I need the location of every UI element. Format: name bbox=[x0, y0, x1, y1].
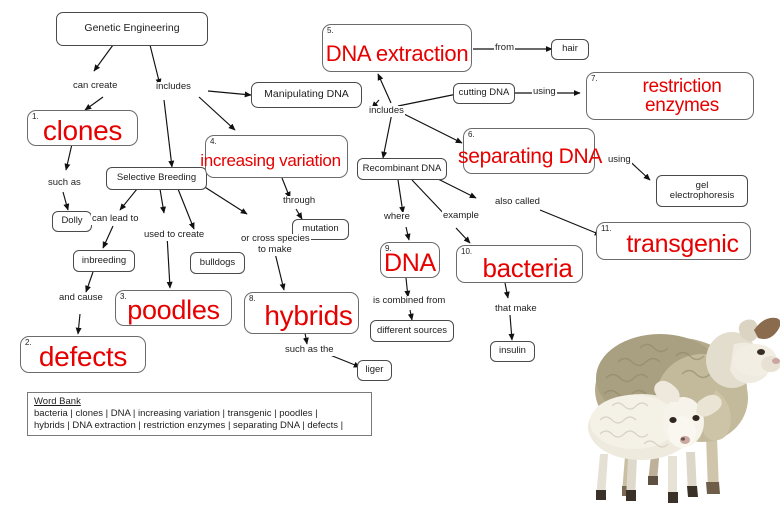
answer-number: 6. bbox=[468, 131, 475, 140]
link-label-example: example bbox=[442, 211, 480, 222]
answer-text: increasing variation bbox=[200, 152, 341, 171]
link-label-where: where bbox=[383, 212, 411, 223]
node-label: different sources bbox=[377, 326, 447, 336]
node-label: bulldogs bbox=[200, 258, 235, 268]
answer-text: separating DNA bbox=[458, 145, 588, 168]
answer-text: clones bbox=[28, 116, 137, 147]
answer-text: poodles bbox=[116, 296, 231, 326]
node-liger[interactable]: liger bbox=[357, 360, 392, 381]
link-label-that-make: that make bbox=[494, 304, 538, 315]
node-answer-dna[interactable]: 9. DNA bbox=[380, 242, 440, 278]
node-label: insulin bbox=[499, 346, 526, 356]
node-label-line2: electrophoresis bbox=[670, 191, 734, 201]
node-label: inbreeding bbox=[82, 256, 126, 266]
link-label-or-cross-species-line2: to make bbox=[257, 245, 293, 256]
node-answer-separating-dna[interactable]: 6. separating DNA bbox=[463, 128, 595, 174]
node-answer-dna-extraction[interactable]: 5. DNA extraction bbox=[322, 24, 472, 72]
answer-number: 7. bbox=[591, 75, 598, 84]
node-inbreeding[interactable]: inbreeding bbox=[73, 250, 135, 272]
word-bank-line-2: hybrids | DNA extraction | restriction e… bbox=[34, 420, 365, 432]
answer-text: bacteria bbox=[465, 254, 590, 283]
link-label-from: from bbox=[494, 43, 515, 54]
link-label-using-separating: using bbox=[607, 155, 632, 166]
node-answer-bacteria[interactable]: 10. bacteria bbox=[456, 245, 583, 283]
node-answer-increasing-variation[interactable]: 4. increasing variation bbox=[205, 135, 348, 178]
node-label: Genetic Engineering bbox=[84, 23, 179, 35]
node-answer-defects[interactable]: 2. defects bbox=[20, 336, 146, 373]
link-label-can-create: can create bbox=[72, 81, 118, 92]
answer-text: transgenic bbox=[606, 231, 759, 259]
node-label: cutting DNA bbox=[459, 88, 510, 98]
link-label-such-as: such as bbox=[47, 178, 82, 189]
node-answer-poodles[interactable]: 3. poodles bbox=[115, 290, 232, 326]
node-cutting-dna[interactable]: cutting DNA bbox=[453, 83, 515, 104]
word-bank: Word Bank bacteria | clones | DNA | incr… bbox=[27, 392, 372, 436]
link-label-such-as-the: such as the bbox=[284, 345, 335, 356]
node-label: Dolly bbox=[61, 216, 82, 226]
link-label-through: through bbox=[282, 196, 316, 207]
node-label: Selective Breeding bbox=[117, 173, 196, 183]
answer-text: DNA bbox=[381, 250, 439, 278]
node-label: hair bbox=[562, 44, 578, 54]
node-answer-transgenic[interactable]: 11. transgenic bbox=[596, 222, 751, 260]
answer-text-line2: enzymes bbox=[599, 96, 765, 115]
word-bank-title: Word Bank bbox=[34, 396, 365, 408]
link-label-using-cutting: using bbox=[532, 87, 557, 98]
sheep-photo bbox=[556, 286, 780, 517]
node-hair[interactable]: hair bbox=[551, 39, 589, 60]
node-answer-clones[interactable]: 1. clones bbox=[27, 110, 138, 146]
answer-text: defects bbox=[21, 342, 145, 373]
node-label: Recombinant DNA bbox=[363, 164, 442, 174]
node-answer-hybrids[interactable]: 8. hybrids bbox=[244, 292, 359, 334]
link-label-used-to-create: used to create bbox=[143, 230, 205, 241]
link-label-also-called: also called bbox=[494, 197, 541, 208]
answer-text-line1: restriction bbox=[599, 77, 765, 96]
node-answer-restriction-enzymes[interactable]: 7. restriction enzymes bbox=[586, 72, 754, 120]
link-label-includes-mid: includes bbox=[368, 106, 405, 117]
link-label-can-lead-to: can lead to bbox=[91, 214, 139, 225]
node-gel-electrophoresis[interactable]: gel electrophoresis bbox=[656, 175, 748, 207]
node-dolly[interactable]: Dolly bbox=[52, 211, 92, 232]
answer-number: 4. bbox=[210, 138, 217, 147]
node-label: liger bbox=[366, 365, 384, 375]
word-bank-line-1: bacteria | clones | DNA | increasing var… bbox=[34, 408, 365, 420]
node-different-sources[interactable]: different sources bbox=[370, 320, 454, 342]
link-label-is-combined-from: is combined from bbox=[372, 296, 446, 307]
answer-text: hybrids bbox=[252, 301, 365, 332]
node-bulldogs[interactable]: bulldogs bbox=[190, 252, 245, 274]
concept-map-canvas: Genetic Engineering 1. clones Selective … bbox=[0, 0, 780, 517]
link-label-and-cause: and cause bbox=[58, 293, 104, 304]
node-manipulating-dna[interactable]: Manipulating DNA bbox=[251, 82, 362, 108]
link-label-includes-top: includes bbox=[155, 82, 192, 93]
node-insulin[interactable]: insulin bbox=[490, 341, 535, 362]
node-recombinant-dna[interactable]: Recombinant DNA bbox=[357, 158, 447, 180]
node-genetic-engineering[interactable]: Genetic Engineering bbox=[56, 12, 208, 46]
node-selective-breeding[interactable]: Selective Breeding bbox=[106, 167, 207, 190]
answer-text: DNA extraction bbox=[323, 42, 471, 66]
node-label: Manipulating DNA bbox=[264, 89, 349, 101]
answer-number: 5. bbox=[327, 27, 334, 36]
